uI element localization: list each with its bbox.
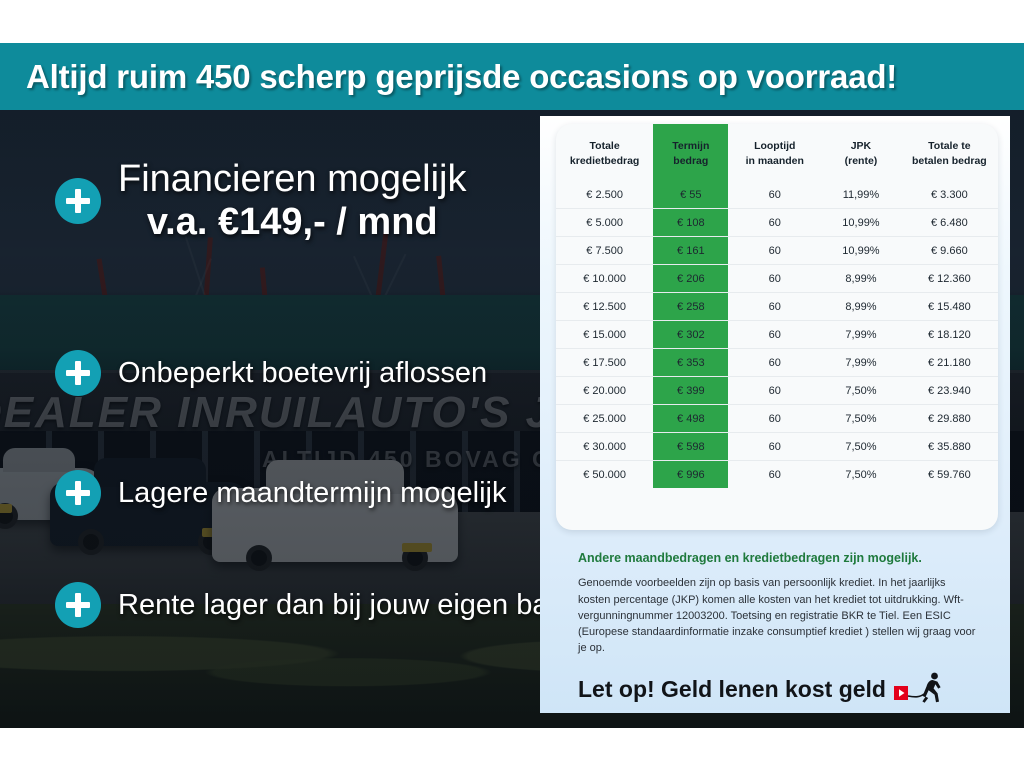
- rate-table-cell: € 59.760: [901, 461, 998, 489]
- rate-table-header-cell: Totale tebetalen bedrag: [901, 125, 998, 182]
- rate-table-cell: € 29.880: [901, 405, 998, 433]
- benefit-item-lower-interest: Rente lager dan bij jouw eigen bank: [55, 582, 579, 628]
- headline-text: Altijd ruim 450 scherp geprijsde occasio…: [26, 58, 897, 96]
- rate-table-cell: € 5.000: [556, 209, 653, 237]
- rate-table-header-line: Looptijd: [730, 139, 819, 154]
- rate-table-cell: 7,50%: [821, 461, 901, 489]
- financing-info-panel: TotalekredietbedragTermijnbedragLooptijd…: [540, 116, 1010, 713]
- benefits-list: Financieren mogelijk v.a. €149,- / mnd O…: [0, 110, 540, 728]
- rate-table-cell: € 35.880: [901, 433, 998, 461]
- benefit-label-line2: v.a. €149,- / mnd: [118, 201, 467, 245]
- benefit-item-early-repayment: Onbeperkt boetevrij aflossen: [55, 350, 487, 396]
- rate-table-header-cell: Looptijdin maanden: [728, 125, 821, 182]
- rate-table-cell: 60: [728, 265, 821, 293]
- rate-table-cell: € 20.000: [556, 377, 653, 405]
- rate-table-cell: 60: [728, 405, 821, 433]
- rate-table-cell: € 12.360: [901, 265, 998, 293]
- advertisement-slide: DEALER INRUILAUTO'S JOHAN MEURE ALTIJD 4…: [0, 0, 1024, 768]
- rate-table-cell: 8,99%: [821, 265, 901, 293]
- rate-table-cell: 60: [728, 433, 821, 461]
- rate-table-cell: € 50.000: [556, 461, 653, 489]
- rate-table-cell: 7,50%: [821, 377, 901, 405]
- plus-circle-icon: [55, 350, 101, 396]
- rate-table-cell: € 108: [653, 209, 728, 237]
- rate-table-cell: 7,50%: [821, 433, 901, 461]
- rate-table-cell: € 21.180: [901, 349, 998, 377]
- rate-table-header-line: Totale: [558, 139, 651, 154]
- rate-table-cell: 60: [728, 293, 821, 321]
- rate-table-header-line: bedrag: [655, 154, 726, 169]
- rate-table-header-line: Termijn: [655, 139, 726, 154]
- benefit-label: Rente lager dan bij jouw eigen bank: [118, 589, 579, 622]
- rate-table-cell: € 9.660: [901, 237, 998, 265]
- headline-banner: Altijd ruim 450 scherp geprijsde occasio…: [0, 43, 1024, 110]
- rate-table-cell: 7,99%: [821, 349, 901, 377]
- disclaimer-title: Andere maandbedragen en kredietbedragen …: [578, 550, 978, 566]
- rate-table-header-cell: JPK(rente): [821, 125, 901, 182]
- table-row: € 10.000€ 206608,99%€ 12.360: [556, 265, 998, 293]
- benefit-label-line1: Financieren mogelijk: [118, 158, 467, 201]
- benefit-text-block: Financieren mogelijk v.a. €149,- / mnd: [118, 158, 467, 244]
- loan-warning-text: Let op! Geld lenen kost geld: [578, 676, 886, 703]
- rate-table-header-line: JPK: [823, 139, 899, 154]
- rate-table-header-line: Totale te: [903, 139, 996, 154]
- rate-table-body: € 2.500€ 556011,99%€ 3.300€ 5.000€ 10860…: [556, 181, 998, 488]
- table-row: € 17.500€ 353607,99%€ 21.180: [556, 349, 998, 377]
- benefit-item-lower-monthly: Lagere maandtermijn mogelijk: [55, 470, 506, 516]
- disclaimer-body: Genoemde voorbeelden zijn op basis van p…: [578, 575, 978, 656]
- rate-table-header-cell: Termijnbedrag: [653, 125, 728, 182]
- plus-circle-icon: [55, 178, 101, 224]
- rate-table-cell: € 30.000: [556, 433, 653, 461]
- rate-table-cell: 60: [728, 377, 821, 405]
- table-row: € 7.500€ 1616010,99%€ 9.660: [556, 237, 998, 265]
- rate-table-cell: € 206: [653, 265, 728, 293]
- rate-table-cell: € 7.500: [556, 237, 653, 265]
- afm-loan-warning-icon: [894, 672, 946, 706]
- rate-table-cell: 60: [728, 209, 821, 237]
- table-row: € 25.000€ 498607,50%€ 29.880: [556, 405, 998, 433]
- plus-circle-icon: [55, 470, 101, 516]
- rate-table-cell: € 3.300: [901, 181, 998, 209]
- table-row: € 15.000€ 302607,99%€ 18.120: [556, 321, 998, 349]
- plus-circle-icon: [55, 582, 101, 628]
- rate-table-cell: € 498: [653, 405, 728, 433]
- rate-table-cell: € 161: [653, 237, 728, 265]
- rate-table: TotalekredietbedragTermijnbedragLooptijd…: [556, 124, 998, 488]
- rate-table-cell: € 12.500: [556, 293, 653, 321]
- rate-table-cell: € 6.480: [901, 209, 998, 237]
- rate-table-cell: 8,99%: [821, 293, 901, 321]
- rate-table-header-line: in maanden: [730, 154, 819, 169]
- rate-table-cell: 60: [728, 181, 821, 209]
- rate-table-cell: € 10.000: [556, 265, 653, 293]
- loan-warning: Let op! Geld lenen kost geld: [578, 672, 946, 706]
- rate-table-header-line: (rente): [823, 154, 899, 169]
- rate-table-cell: 7,50%: [821, 405, 901, 433]
- rate-table-cell: 7,99%: [821, 321, 901, 349]
- rate-table-card: TotalekredietbedragTermijnbedragLooptijd…: [556, 124, 998, 530]
- rate-table-cell: 10,99%: [821, 237, 901, 265]
- rate-table-header-cell: Totalekredietbedrag: [556, 125, 653, 182]
- benefit-label: Onbeperkt boetevrij aflossen: [118, 357, 487, 390]
- table-row: € 30.000€ 598607,50%€ 35.880: [556, 433, 998, 461]
- rate-table-header-line: betalen bedrag: [903, 154, 996, 169]
- rate-table-cell: 10,99%: [821, 209, 901, 237]
- rate-table-head: TotalekredietbedragTermijnbedragLooptijd…: [556, 125, 998, 182]
- rate-table-cell: € 15.000: [556, 321, 653, 349]
- rate-table-cell: € 996: [653, 461, 728, 489]
- table-row: € 20.000€ 399607,50%€ 23.940: [556, 377, 998, 405]
- rate-table-cell: 60: [728, 237, 821, 265]
- rate-table-cell: € 25.000: [556, 405, 653, 433]
- rate-table-cell: 60: [728, 461, 821, 489]
- rate-table-cell: € 18.120: [901, 321, 998, 349]
- table-row: € 12.500€ 258608,99%€ 15.480: [556, 293, 998, 321]
- rate-table-cell: € 258: [653, 293, 728, 321]
- rate-table-cell: € 23.940: [901, 377, 998, 405]
- rate-table-cell: € 55: [653, 181, 728, 209]
- rate-table-cell: 11,99%: [821, 181, 901, 209]
- rate-table-cell: € 2.500: [556, 181, 653, 209]
- rate-table-cell: € 15.480: [901, 293, 998, 321]
- benefit-item-financing: Financieren mogelijk v.a. €149,- / mnd: [55, 158, 467, 244]
- table-row: € 50.000€ 996607,50%€ 59.760: [556, 461, 998, 489]
- rate-table-cell: 60: [728, 321, 821, 349]
- rate-table-header-row: TotalekredietbedragTermijnbedragLooptijd…: [556, 125, 998, 182]
- table-row: € 2.500€ 556011,99%€ 3.300: [556, 181, 998, 209]
- rate-table-cell: € 399: [653, 377, 728, 405]
- table-row: € 5.000€ 1086010,99%€ 6.480: [556, 209, 998, 237]
- rate-table-cell: € 17.500: [556, 349, 653, 377]
- rate-table-header-line: kredietbedrag: [558, 154, 651, 169]
- rate-table-cell: € 353: [653, 349, 728, 377]
- rate-table-cell: € 302: [653, 321, 728, 349]
- rate-table-cell: € 598: [653, 433, 728, 461]
- disclaimer-block: Andere maandbedragen en kredietbedragen …: [578, 550, 978, 657]
- benefit-label: Lagere maandtermijn mogelijk: [118, 477, 506, 510]
- rate-table-cell: 60: [728, 349, 821, 377]
